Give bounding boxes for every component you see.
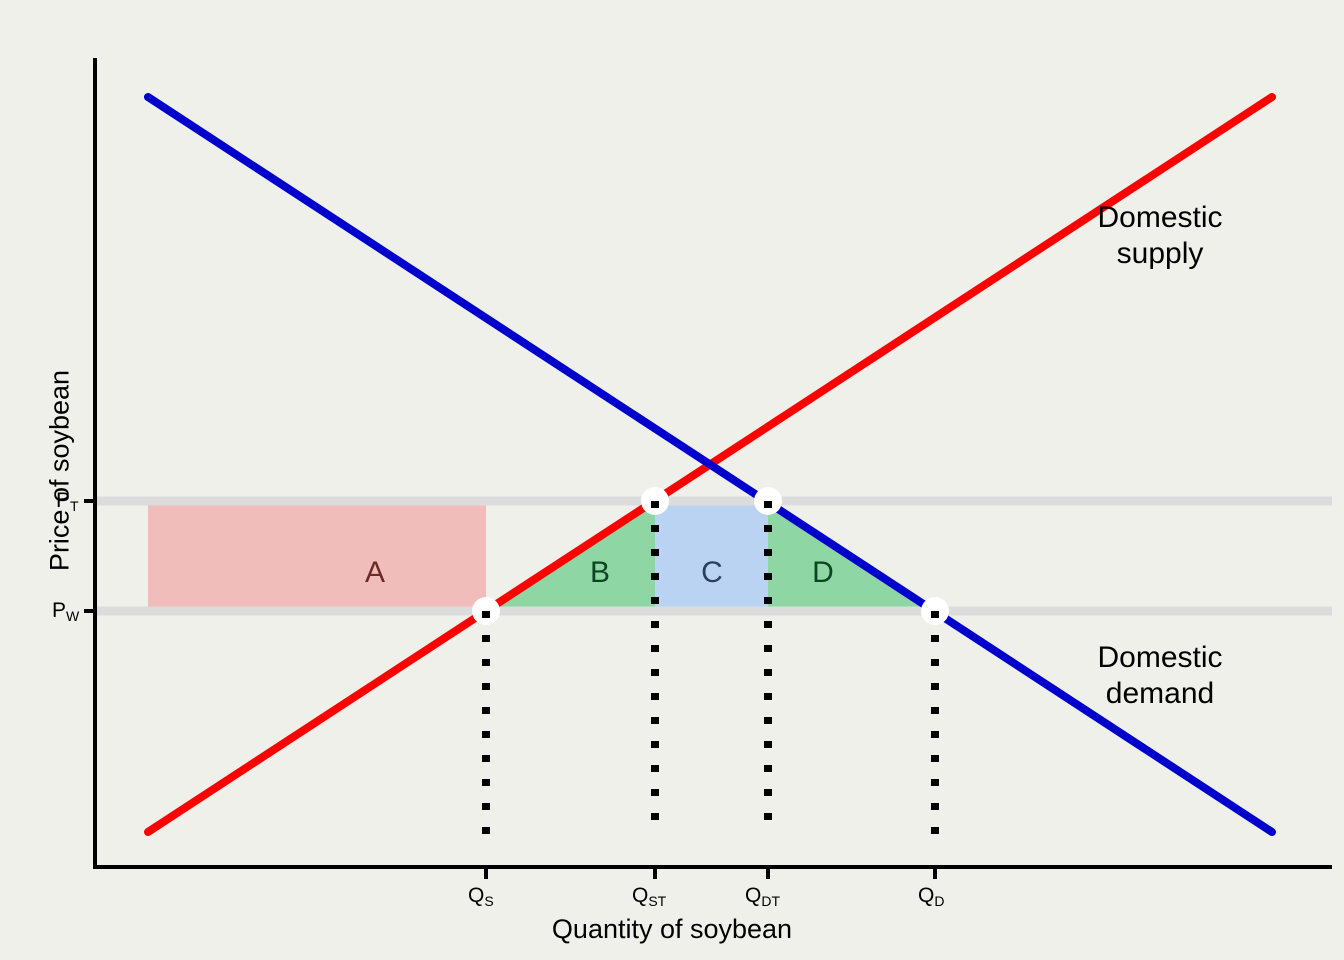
x-axis-title: Quantity of soybean — [0, 914, 1344, 945]
x-tick-label-qdt-base: Q — [745, 884, 761, 907]
x-tick-label-qdt-sub: DT — [761, 893, 780, 909]
y-tick-label-pw: PW — [52, 599, 79, 623]
x-tick-label-qdt: QDT — [745, 884, 780, 908]
region-a-shape — [148, 501, 486, 611]
domestic-demand-label-line2: demand — [1106, 677, 1214, 710]
domestic-supply-label-line1: Domestic — [1097, 201, 1222, 234]
x-tick-label-qst-sub: ST — [648, 893, 666, 909]
x-tick-label-qst: QST — [632, 884, 666, 908]
region-label-c: C — [682, 556, 742, 590]
x-tick-label-qd-base: Q — [918, 884, 934, 907]
x-tick-label-qst-base: Q — [632, 884, 648, 907]
region-label-a: A — [345, 556, 405, 590]
domestic-supply-label-line2: supply — [1117, 237, 1204, 270]
domestic-demand-label-line1: Domestic — [1097, 641, 1222, 674]
economics-chart: Price of soybean Quantity of soybean PT … — [0, 0, 1344, 960]
y-tick-label-pt-sub: T — [70, 498, 79, 514]
y-tick-label-pt: PT — [56, 489, 79, 513]
x-tick-label-qs: QS — [468, 884, 494, 908]
y-tick-label-pt-base: P — [56, 489, 70, 512]
domestic-supply-label: Domesticsupply — [1045, 200, 1275, 272]
domestic-demand-label: Domesticdemand — [1045, 640, 1275, 712]
x-tick-label-qd: QD — [918, 884, 944, 908]
chart-canvas — [0, 0, 1344, 960]
y-axis-title: Price of soybean — [45, 241, 76, 701]
region-label-b: B — [570, 556, 630, 590]
y-tick-label-pw-sub: W — [66, 608, 79, 624]
y-tick-label-pw-base: P — [52, 599, 66, 622]
x-tick-label-qd-sub: D — [934, 893, 944, 909]
region-label-d: D — [793, 556, 853, 590]
x-tick-label-qs-sub: S — [484, 893, 493, 909]
x-tick-label-qs-base: Q — [468, 884, 484, 907]
